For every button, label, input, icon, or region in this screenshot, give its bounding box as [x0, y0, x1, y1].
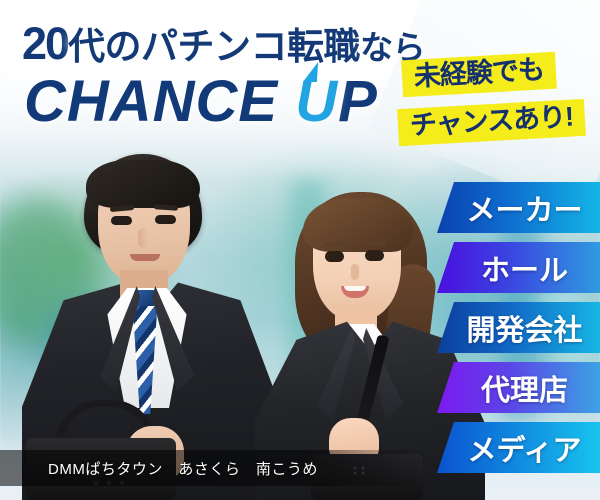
woman-bangs — [303, 198, 413, 252]
category-tag-agency[interactable]: 代理店 — [437, 362, 600, 413]
credit-bar: DMMぱちタウン あさくら 南こうめ — [0, 450, 430, 486]
banner-advertisement[interactable]: 20代のパチンコ転職なら CHANCE UP 未経験でも チャンスあり! メーカ… — [0, 0, 600, 500]
logo-chance-text: CHANCE — [24, 69, 295, 134]
category-tag-label: 開発会社 — [454, 307, 582, 349]
logo-p-letter: P — [338, 69, 378, 134]
credit-text: DMMぱちタウン あさくら 南こうめ — [0, 458, 318, 479]
category-tag-label: ホール — [469, 247, 568, 289]
badge-line-1-text: 未経験でも — [413, 54, 544, 91]
badge-line-2-text: チャンスあり! — [409, 101, 574, 140]
category-tag-label: メディア — [456, 427, 582, 469]
logo-u-letter: U — [295, 68, 338, 135]
woman-eye-left — [325, 251, 344, 262]
chance-up-logo: CHANCE UP — [24, 68, 378, 135]
man-nose — [138, 228, 148, 248]
headline-main: 代のパチンコ転職 — [68, 26, 360, 67]
headline-number: 20 — [22, 18, 68, 69]
category-tag-media[interactable]: メディア — [437, 422, 600, 473]
category-tag-hall[interactable]: ホール — [437, 242, 600, 293]
category-tag-label: 代理店 — [469, 367, 568, 409]
category-tag-label: メーカー — [454, 187, 582, 229]
man-fringe — [86, 160, 200, 208]
category-tag-maker[interactable]: メーカー — [437, 182, 600, 233]
headline-text: 20代のパチンコ転職なら — [22, 16, 425, 70]
woman-teeth — [344, 286, 366, 291]
category-tag-development-company[interactable]: 開発会社 — [437, 302, 600, 353]
man-eye-left — [111, 216, 132, 225]
man-eye-right — [155, 215, 176, 224]
woman-nose — [351, 264, 359, 280]
photo-businessman — [22, 150, 282, 500]
woman-eye-right — [365, 250, 384, 261]
man-mouth — [130, 254, 160, 261]
